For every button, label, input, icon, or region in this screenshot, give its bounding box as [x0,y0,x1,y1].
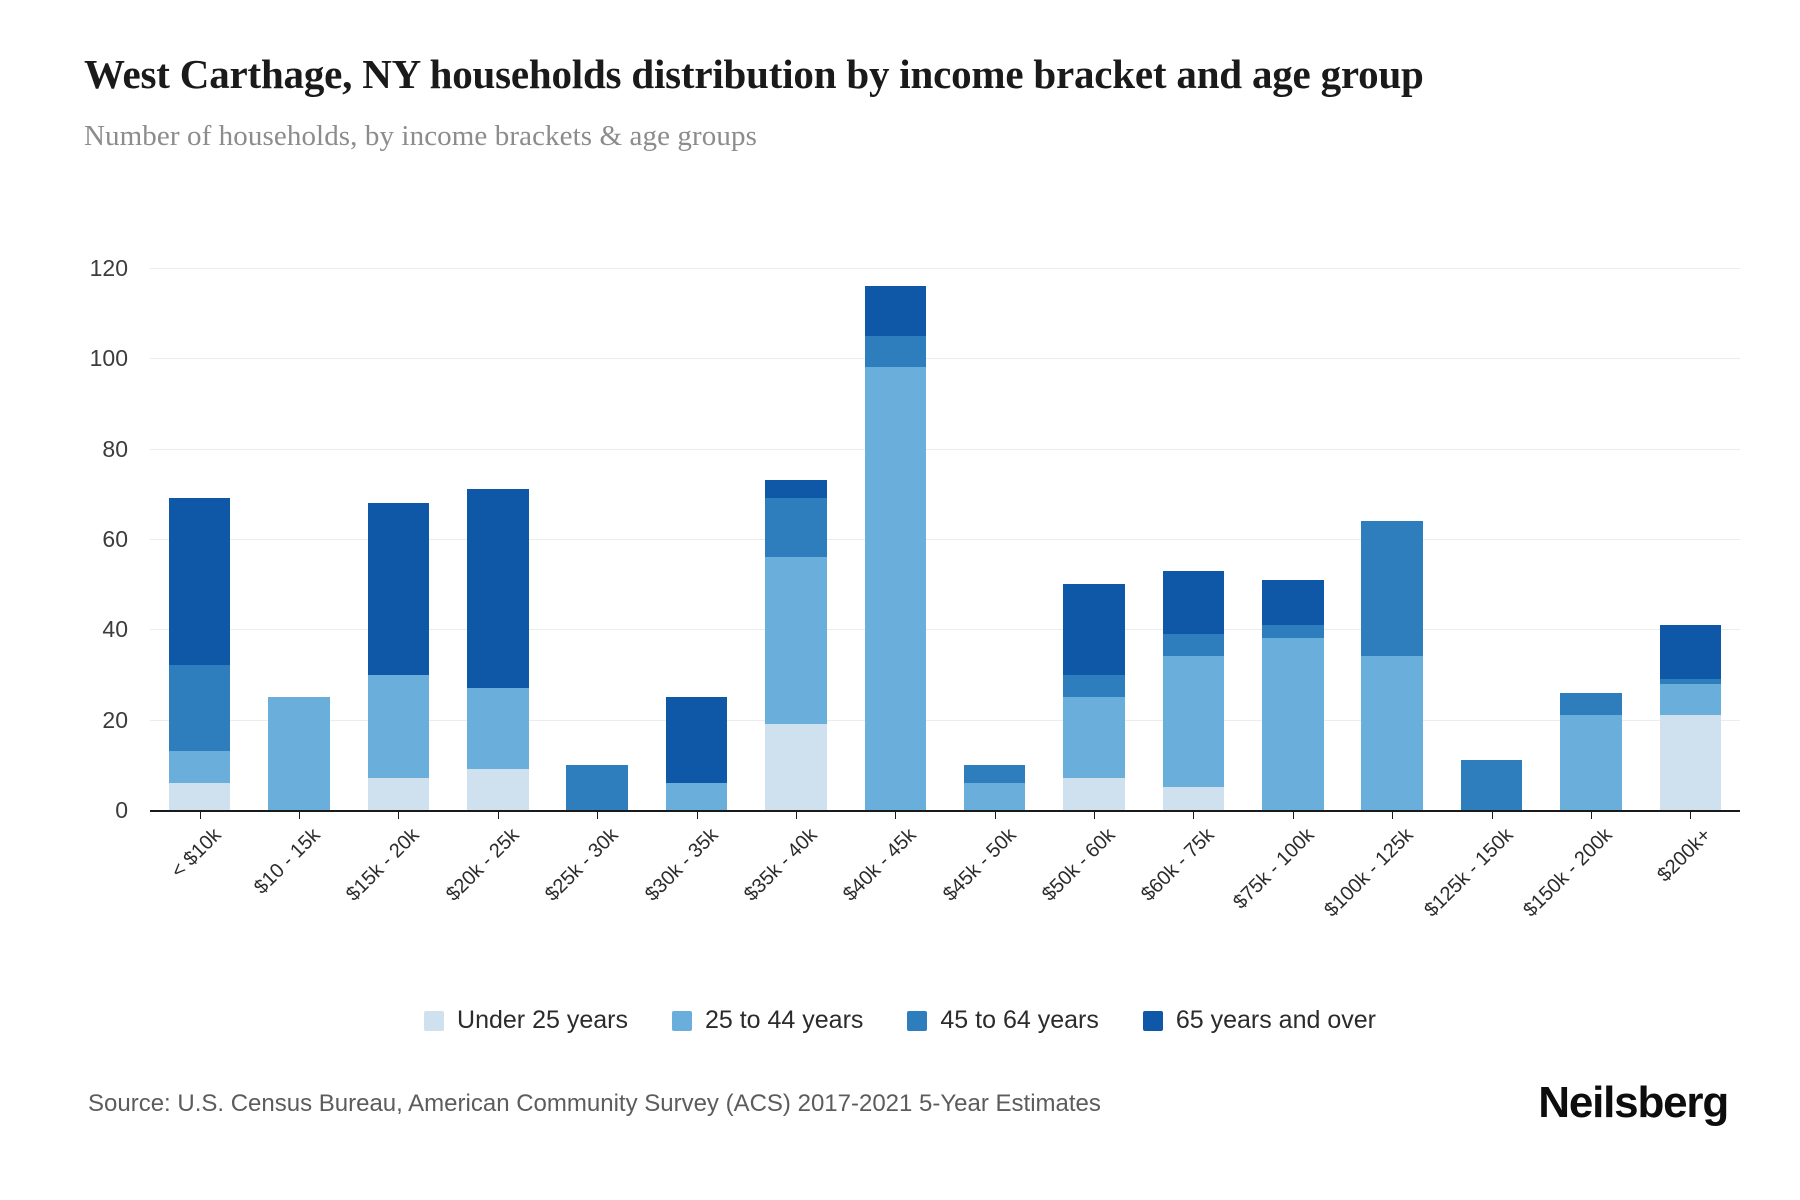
bar-segment[interactable] [467,769,529,810]
bar-stack[interactable] [865,286,927,810]
x-axis-tick-label: $75k - 100k [1229,824,1319,914]
y-axis-tick-label: 120 [58,255,128,282]
y-axis-tick-label: 0 [58,797,128,824]
x-axis-tick-label: $40k - 45k [839,824,921,906]
bar-segment[interactable] [1262,580,1324,625]
bar-segment[interactable] [765,557,827,724]
bar-stack[interactable] [765,480,827,810]
bar-stack[interactable] [964,765,1026,810]
x-axis-tick-label: $125k - 150k [1420,824,1518,922]
bar-segment[interactable] [1660,715,1722,810]
x-axis-line [150,810,1740,812]
legend-item-label: 65 years and over [1176,1006,1376,1035]
bar-series-container [150,268,1740,810]
bar-segment[interactable] [1560,693,1622,716]
legend-item-label: Under 25 years [457,1006,628,1035]
bar-segment[interactable] [169,498,231,665]
bar-segment[interactable] [865,286,927,336]
bar-segment[interactable] [765,480,827,498]
bar-segment[interactable] [169,751,231,783]
bar-segment[interactable] [666,783,728,810]
x-axis-tick-label: $60k - 75k [1137,824,1219,906]
chart-header: West Carthage, NY households distributio… [84,48,1724,153]
bar-segment[interactable] [368,778,430,810]
x-axis-tick-label: $200k+ [1654,824,1717,887]
bar-stack[interactable] [467,489,529,810]
bar-segment[interactable] [566,765,628,810]
y-axis-tick-label: 100 [58,345,128,372]
bar-segment[interactable] [1163,656,1225,787]
bar-segment[interactable] [964,783,1026,810]
legend-item[interactable]: 25 to 44 years [672,1006,863,1035]
bar-segment[interactable] [1063,778,1125,810]
x-axis-tick [498,810,499,819]
legend-item-label: 45 to 64 years [940,1006,1098,1035]
bar-stack[interactable] [1560,693,1622,810]
x-axis-tick-label: < $10k [167,824,226,883]
x-axis-tick [1392,810,1393,819]
bar-segment[interactable] [268,697,330,810]
bar-segment[interactable] [666,697,728,783]
bar-stack[interactable] [169,498,231,810]
bar-segment[interactable] [1163,571,1225,634]
x-axis-tick-label: $100k - 125k [1320,824,1418,922]
bar-stack[interactable] [666,697,728,810]
bar-segment[interactable] [1560,715,1622,810]
bar-segment[interactable] [1163,634,1225,657]
bar-segment[interactable] [1361,521,1423,657]
legend-item-label: 25 to 44 years [705,1006,863,1035]
legend-item[interactable]: 65 years and over [1143,1006,1376,1035]
y-axis-tick-label: 20 [58,707,128,734]
x-axis-tick [1492,810,1493,819]
chart-subtitle: Number of households, by income brackets… [84,120,1724,153]
y-axis-tick-label: 60 [58,526,128,553]
x-axis-tick-label: $15k - 20k [342,824,424,906]
legend-swatch-icon [672,1011,692,1031]
x-axis-tick-label: $25k - 30k [541,824,623,906]
x-axis-tick [995,810,996,819]
bar-segment[interactable] [1660,684,1722,716]
bar-segment[interactable] [1461,760,1523,810]
x-axis-tick [200,810,201,819]
y-axis-tick-label: 40 [58,616,128,643]
bar-segment[interactable] [964,765,1026,783]
brand-logo: Neilsberg [1538,1078,1728,1128]
bar-stack[interactable] [368,503,430,810]
bar-segment[interactable] [368,503,430,675]
bar-segment[interactable] [1063,675,1125,698]
x-axis-tick-label: $150k - 200k [1519,824,1617,922]
legend-item[interactable]: 45 to 64 years [907,1006,1098,1035]
x-axis-tick [895,810,896,819]
x-axis-tick [597,810,598,819]
x-axis-tick [299,810,300,819]
y-axis-tick-label: 80 [58,436,128,463]
plot-area: 020406080100120< $10k$10 - 15k$15k - 20k… [0,268,1800,918]
bar-segment[interactable] [1660,625,1722,679]
bar-segment[interactable] [1262,625,1324,639]
bar-stack[interactable] [1163,571,1225,810]
x-axis-tick-label: $35k - 40k [740,824,822,906]
bar-segment[interactable] [169,665,231,751]
bar-stack[interactable] [566,765,628,810]
x-axis-tick [796,810,797,819]
bar-segment[interactable] [1063,697,1125,778]
x-axis-tick-label: $30k - 35k [641,824,723,906]
x-axis-tick [1690,810,1691,819]
bar-stack[interactable] [268,697,330,810]
x-axis-tick [1591,810,1592,819]
bar-segment[interactable] [169,783,231,810]
bar-stack[interactable] [1063,584,1125,810]
bar-segment[interactable] [1163,787,1225,810]
bar-stack[interactable] [1461,760,1523,810]
chart-page: West Carthage, NY households distributio… [0,0,1800,1200]
legend-item[interactable]: Under 25 years [424,1006,628,1035]
page-title: West Carthage, NY households distributio… [84,48,1644,100]
x-axis-tick [1293,810,1294,819]
bar-segment[interactable] [865,367,927,810]
x-axis-tick [1193,810,1194,819]
bar-segment[interactable] [765,498,827,557]
bar-segment[interactable] [368,675,430,779]
bar-stack[interactable] [1361,521,1423,810]
source-note: Source: U.S. Census Bureau, American Com… [88,1090,1101,1118]
x-axis-tick-label: $20k - 25k [442,824,524,906]
chart-legend: Under 25 years25 to 44 years45 to 64 yea… [0,1006,1800,1035]
bar-segment[interactable] [1262,638,1324,810]
x-axis-tick-label: $50k - 60k [1038,824,1120,906]
legend-swatch-icon [1143,1011,1163,1031]
x-axis-tick [398,810,399,819]
bar-stack[interactable] [1660,625,1722,810]
x-axis-tick-label: $45k - 50k [939,824,1021,906]
legend-swatch-icon [424,1011,444,1031]
x-axis-tick [1094,810,1095,819]
bar-segment[interactable] [1361,656,1423,810]
bar-segment[interactable] [467,489,529,688]
bar-segment[interactable] [765,724,827,810]
x-axis-tick-label: $10 - 15k [250,824,325,899]
bar-segment[interactable] [1063,584,1125,674]
bar-stack[interactable] [1262,580,1324,810]
x-axis-tick [697,810,698,819]
bar-segment[interactable] [467,688,529,769]
bar-segment[interactable] [865,336,927,368]
legend-swatch-icon [907,1011,927,1031]
